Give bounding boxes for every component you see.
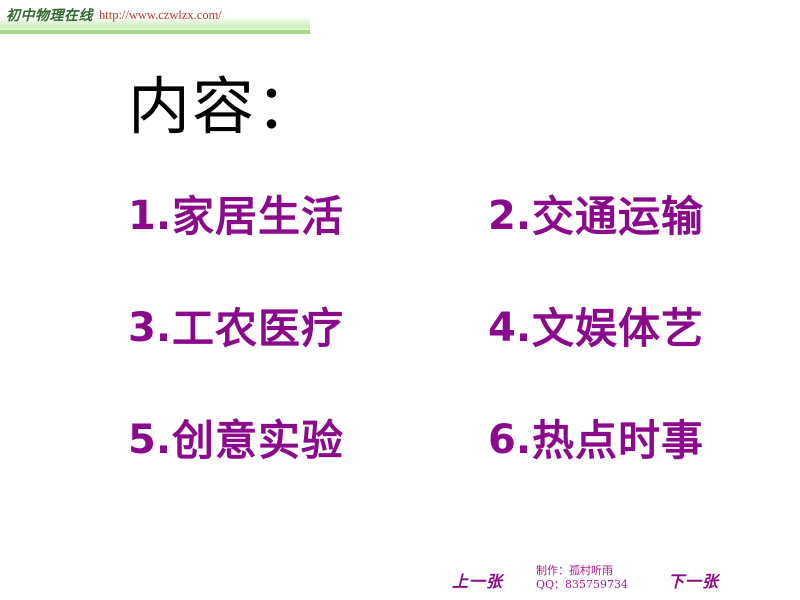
credit-qq: QQ：835759734: [536, 578, 664, 592]
list-item-number: 3.: [128, 308, 171, 348]
prev-slide-button[interactable]: 上一张: [452, 568, 503, 592]
banner-stripe: [0, 30, 310, 34]
site-url[interactable]: http://www.czwlzx.com/: [99, 8, 222, 23]
list-item[interactable]: 4. 文娱体艺: [488, 308, 768, 420]
list-item-label: 交通运输: [532, 196, 704, 238]
next-slide-button[interactable]: 下一张: [668, 568, 719, 592]
list-item-label: 家居生活: [172, 196, 344, 238]
list-item[interactable]: 5. 创意实验: [128, 420, 488, 532]
list-item-label: 工农医疗: [172, 308, 344, 350]
site-name: 初中物理在线: [6, 5, 93, 25]
list-item-number: 5.: [128, 420, 171, 460]
slide-footer: 上一张 制作：孤村听雨 QQ：835759734 下一张: [0, 556, 800, 600]
list-item[interactable]: 2. 交通运输: [488, 196, 768, 308]
site-banner-content: 初中物理在线 http://www.czwlzx.com/: [0, 0, 310, 30]
list-item-number: 2.: [488, 196, 531, 236]
page-title: 内容：: [128, 76, 320, 138]
site-banner: 初中物理在线 http://www.czwlzx.com/: [0, 0, 310, 34]
list-item-label: 热点时事: [532, 420, 704, 462]
list-item-label: 创意实验: [172, 420, 344, 462]
list-item-number: 6.: [488, 420, 531, 460]
credit-author: 制作：孤村听雨: [536, 564, 664, 578]
list-item-label: 文娱体艺: [532, 308, 704, 350]
list-item[interactable]: 3. 工农医疗: [128, 308, 488, 420]
list-item[interactable]: 6. 热点时事: [488, 420, 768, 532]
list-item[interactable]: 1. 家居生活: [128, 196, 488, 308]
list-item-number: 4.: [488, 308, 531, 348]
credit-block: 制作：孤村听雨 QQ：835759734: [536, 564, 664, 592]
list-item-number: 1.: [128, 196, 171, 236]
content-list: 1. 家居生活 2. 交通运输 3. 工农医疗 4. 文娱体艺 5. 创意实验 …: [128, 196, 768, 532]
